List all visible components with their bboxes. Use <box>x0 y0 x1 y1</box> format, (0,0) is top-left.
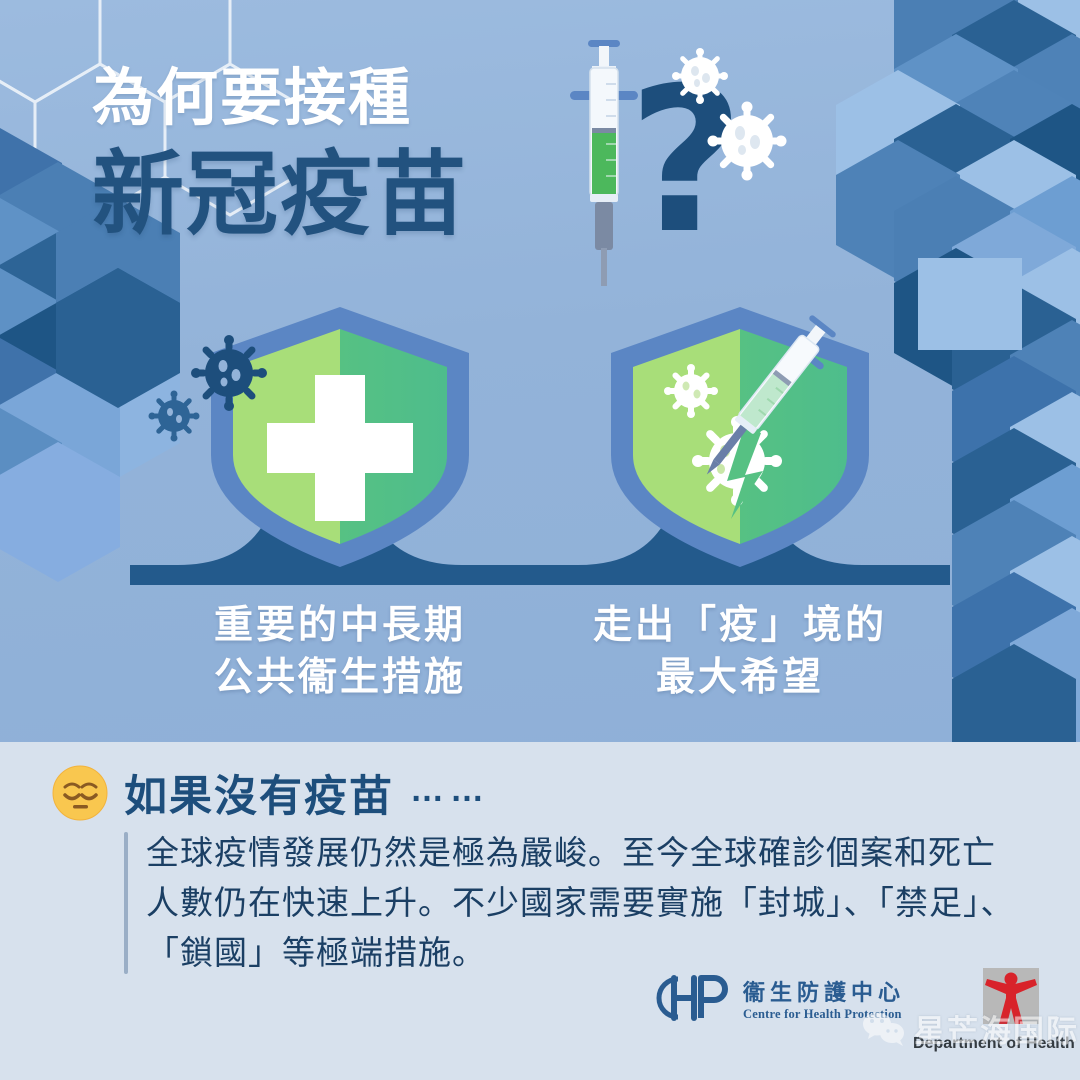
page-title-line-2: 新冠疫苗 <box>92 120 468 253</box>
shield-caption-left-line-1: 重要的中長期 <box>130 600 550 652</box>
wechat-icon <box>862 1011 906 1047</box>
shield-caption-left: 重要的中長期 公共衞生措施 <box>130 600 550 704</box>
shield-caption-right-line-1: 走出「疫」境的 <box>530 600 950 652</box>
chp-name-zh: 衞生防護中心 <box>743 975 905 1007</box>
bottom-heading-dots: …… <box>410 771 490 816</box>
bottom-paragraph: 全球疫情發展仍然是極為嚴峻。至今全球確診個案和死亡人數仍在快速上升。不少國家需要… <box>146 828 1016 978</box>
shield-syringe-virus-icon <box>605 305 875 570</box>
shield-caption-right: 走出「疫」境的 最大希望 <box>530 600 950 704</box>
virus-dark-small-icon <box>146 388 202 444</box>
header: 為何要接種 新冠疫苗 <box>0 0 1080 300</box>
shield-caption-right-line-2: 最大希望 <box>530 652 950 704</box>
bottom-heading-row: 如果沒有疫苗 …… <box>124 762 490 824</box>
paragraph-rule <box>124 832 128 974</box>
top-panel: 為何要接種 新冠疫苗 <box>0 0 1080 742</box>
bottom-heading: 如果沒有疫苗 <box>124 762 394 824</box>
shield-caption-left-line-2: 公共衞生措施 <box>130 652 550 704</box>
chp-monogram-icon <box>648 972 734 1024</box>
pensive-face-emoji <box>52 765 108 821</box>
poster-root: 為何要接種 新冠疫苗 <box>0 0 1080 1080</box>
wechat-watermark: 星芒海国际 <box>862 1006 1079 1051</box>
shield-row: 重要的中長期 公共衞生措施 <box>0 300 1080 740</box>
watermark-text: 星芒海国际 <box>914 1006 1079 1051</box>
virus-white-large-icon <box>704 98 790 184</box>
